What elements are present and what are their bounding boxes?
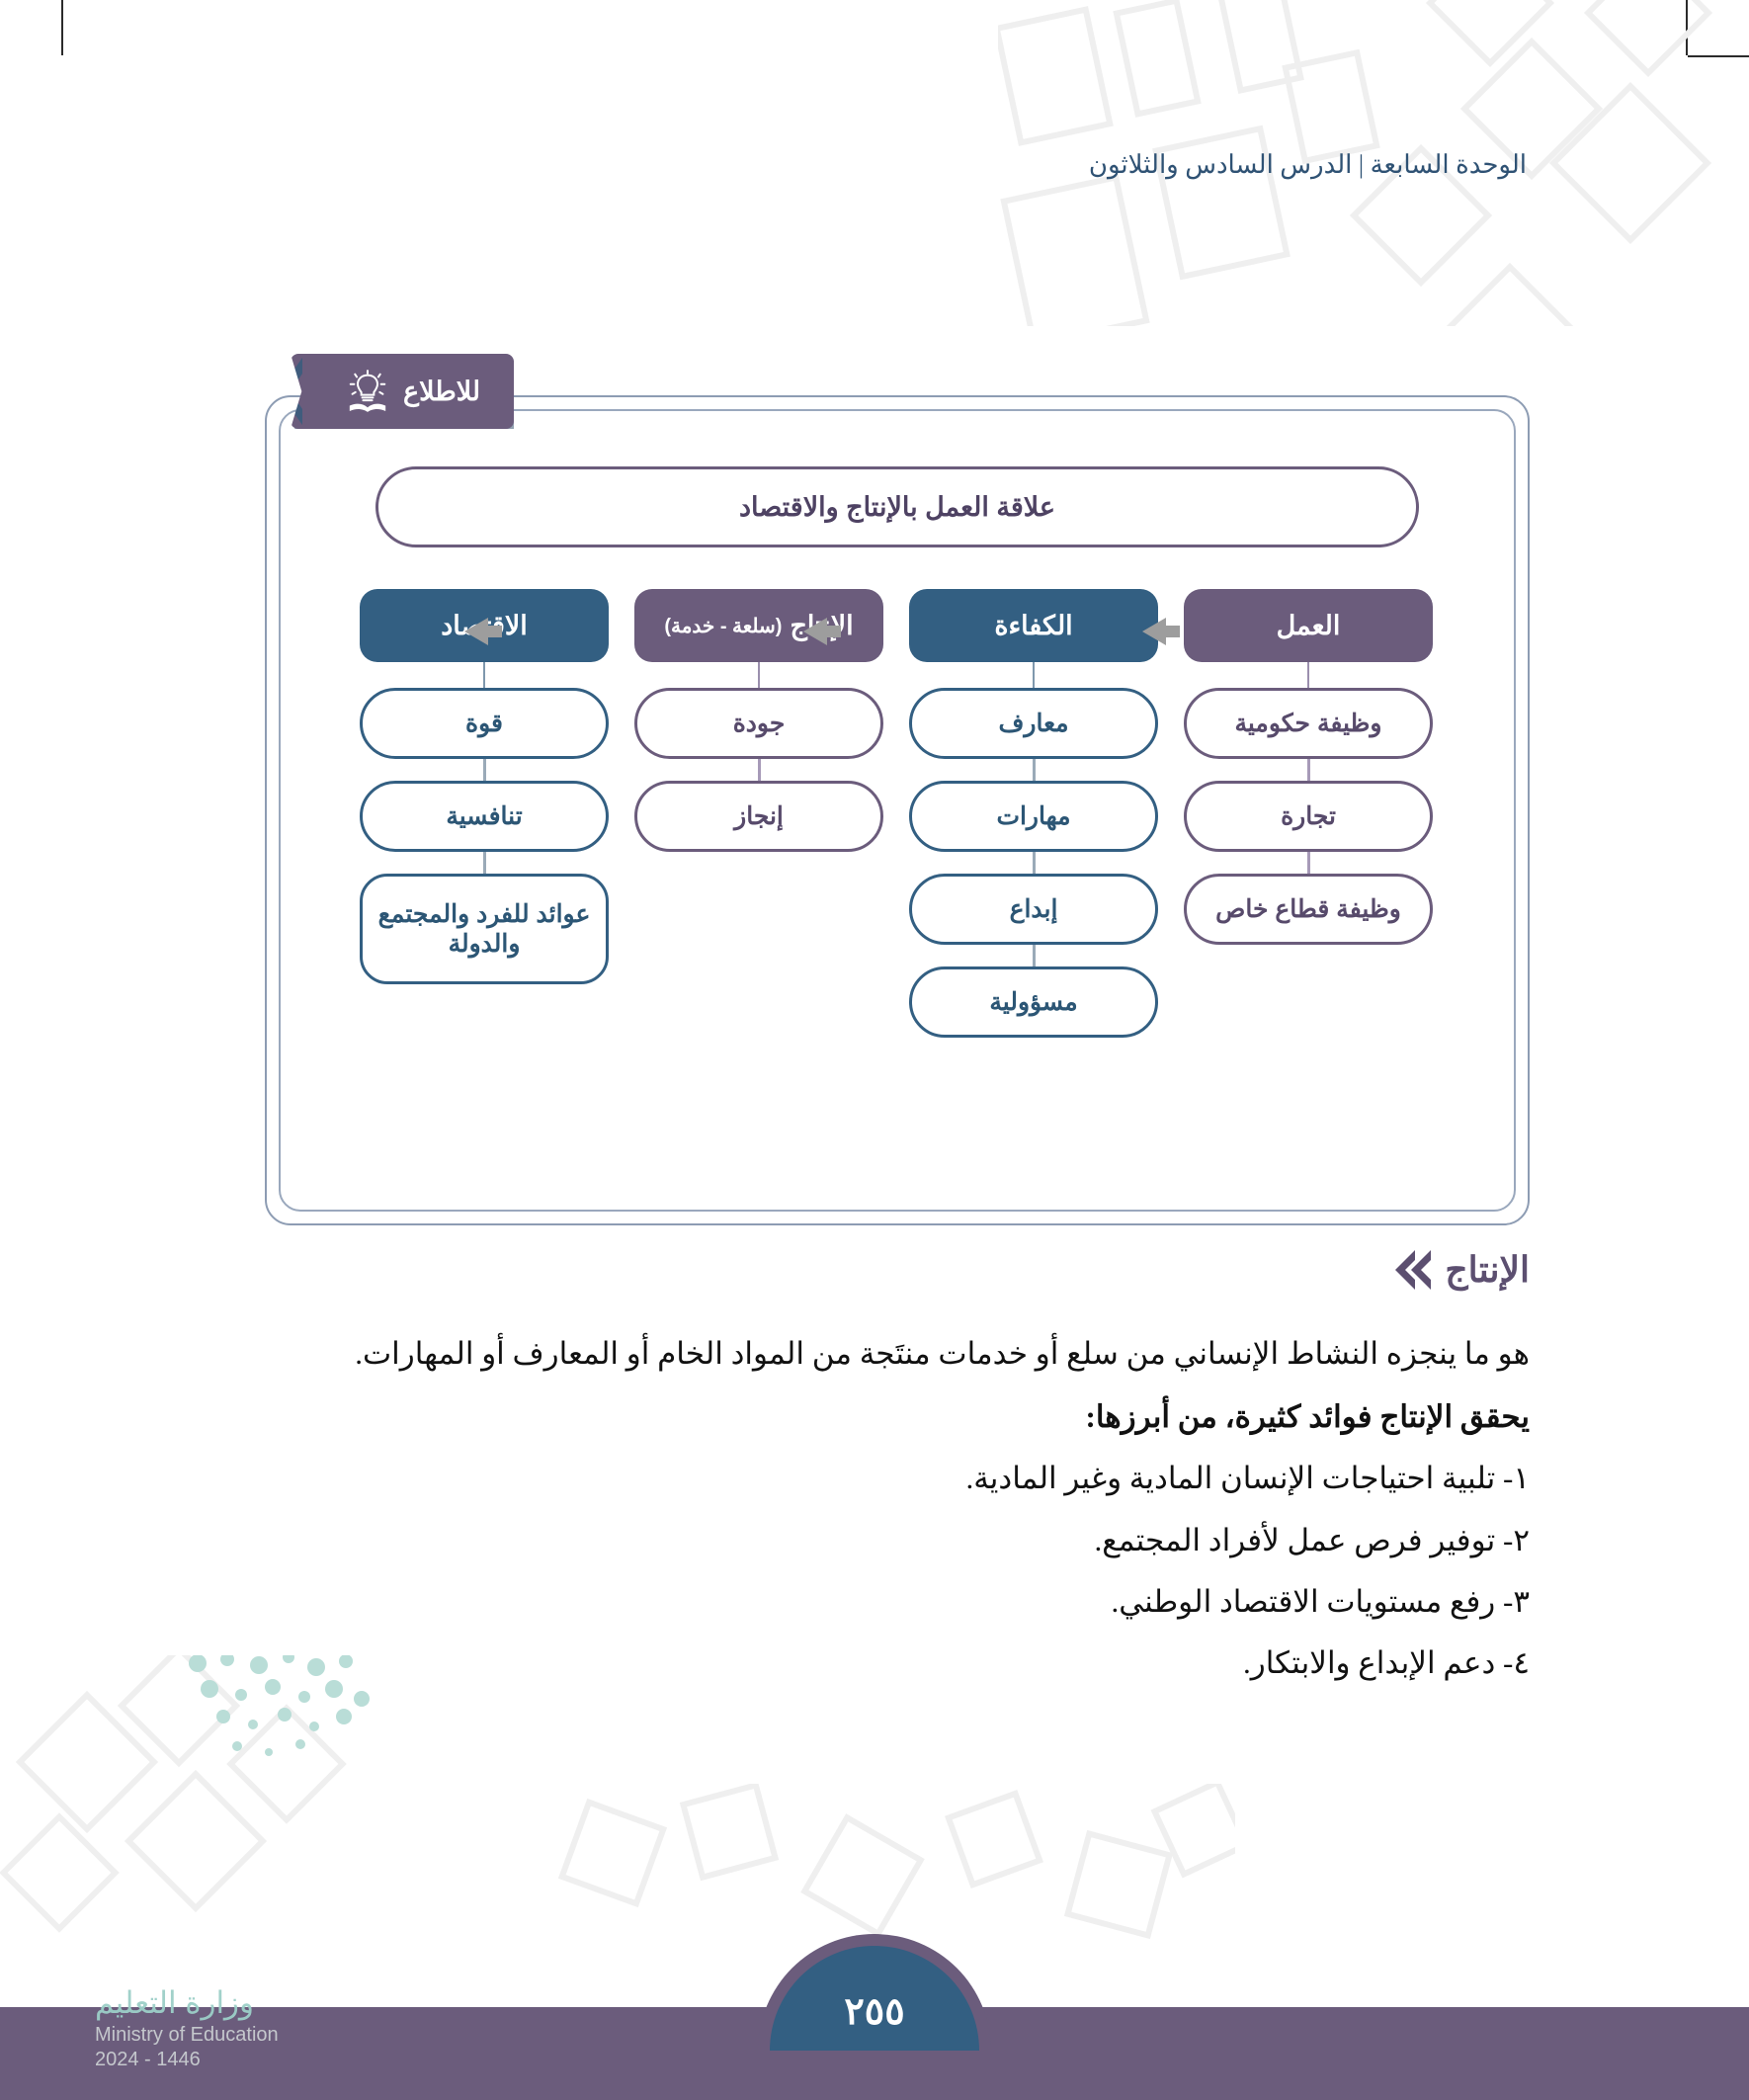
column-head-label: الكفاءة	[994, 611, 1072, 641]
node-work-2: تجارة	[1184, 781, 1433, 852]
ministry-name-ar: وزارة التعليم	[95, 1984, 279, 2023]
flow-arrow-2	[801, 615, 843, 648]
flow-arrow-3	[462, 615, 504, 648]
benefits-lead: يحقق الإنتاج فوائد كثيرة، من أبرزها:	[215, 1392, 1530, 1442]
running-head: الوحدة السابعة | الدرس السادس والثلاثون	[1089, 150, 1527, 180]
badge-label: للاطلاع	[403, 377, 480, 407]
node-economy-2: تنافسية	[360, 781, 609, 852]
crop-mark-top-left	[61, 0, 63, 55]
node-connector	[483, 759, 486, 781]
diagram-column-competence: الكفاءة معارف مهارات إبداع مسؤولية	[909, 589, 1158, 1038]
diagram-columns: العمل وظيفة حكومية تجارة وظيفة قطاع خاص …	[360, 589, 1433, 1038]
page-number: ٢٥٥	[844, 1989, 904, 2034]
node-connector	[1033, 852, 1036, 874]
body-text: هو ما ينجزه النشاط الإنساني من سلع أو خد…	[215, 1329, 1530, 1700]
node-production-1: جودة	[634, 688, 883, 759]
definition-paragraph: هو ما ينجزه النشاط الإنساني من سلع أو خد…	[215, 1329, 1530, 1379]
crop-mark-top-right-h	[1688, 55, 1749, 57]
node-connector	[758, 759, 761, 781]
list-item: ٢- توفير فرص عمل لأفراد المجتمع.	[215, 1516, 1530, 1565]
node-competence-2: مهارات	[909, 781, 1158, 852]
node-competence-3: إبداع	[909, 874, 1158, 945]
diagram-column-economy: الاقتصاد قوة تنافسية عوائد للفرد والمجتم…	[360, 589, 609, 1038]
column-head-sublabel: (سلعة - خدمة)	[664, 614, 782, 638]
diagram-column-production: الإنتاج (سلعة - خدمة) جودة إنجاز	[634, 589, 883, 1038]
node-competence-4: مسؤولية	[909, 966, 1158, 1038]
crop-mark-top-right-v	[1686, 0, 1688, 55]
node-connector	[1033, 759, 1036, 781]
node-work-1: وظيفة حكومية	[1184, 688, 1433, 759]
column-stem	[1033, 662, 1036, 688]
ministry-year: 2024 - 1446	[95, 2048, 279, 2072]
node-connector	[1307, 852, 1310, 874]
section-heading-label: الإنتاج	[1445, 1249, 1530, 1291]
list-item: ١- تلبية احتياجات الإنسان المادية وغير ا…	[215, 1454, 1530, 1503]
node-economy-1: قوة	[360, 688, 609, 759]
page-number-inner: ٢٥٥	[770, 1946, 979, 2051]
infographic-panel: للاطلاع علاقة العمل بالإنتاج والاقتصاد	[265, 395, 1530, 1225]
reference-badge: للاطلاع	[291, 354, 514, 429]
column-stem	[1307, 662, 1310, 688]
column-stem	[758, 662, 761, 688]
column-head-label: العمل	[1277, 611, 1341, 641]
list-item: ٣- رفع مستويات الاقتصاد الوطني.	[215, 1577, 1530, 1627]
benefits-list: ١- تلبية احتياجات الإنسان المادية وغير ا…	[215, 1454, 1530, 1688]
flow-arrow-1	[1140, 615, 1182, 648]
node-connector	[483, 852, 486, 874]
diagram-title: علاقة العمل بالإنتاج والاقتصاد	[375, 466, 1419, 547]
node-connector	[1307, 759, 1310, 781]
ministry-name-en: Ministry of Education	[95, 2023, 279, 2048]
node-competence-1: معارف	[909, 688, 1158, 759]
column-head-work: العمل	[1184, 589, 1433, 662]
lightbulb-book-icon	[348, 370, 387, 413]
column-head-production: الإنتاج (سلعة - خدمة)	[634, 589, 883, 662]
page-number-badge: ٢٥٥	[758, 1934, 991, 2051]
node-work-3: وظيفة قطاع خاص	[1184, 874, 1433, 945]
section-heading: الإنتاج	[1387, 1247, 1530, 1293]
node-economy-3: عوائد للفرد والمجتمع والدولة	[360, 874, 609, 984]
node-production-2: إنجاز	[634, 781, 883, 852]
column-head-competence: الكفاءة	[909, 589, 1158, 662]
column-stem	[483, 662, 486, 688]
node-connector	[1033, 945, 1036, 966]
decorative-pattern-bottom-left	[0, 1655, 632, 1981]
list-item: ٤- دعم الإبداع والابتكار.	[215, 1638, 1530, 1688]
diagram-column-work: العمل وظيفة حكومية تجارة وظيفة قطاع خاص	[1184, 589, 1433, 1038]
ministry-watermark: وزارة التعليم Ministry of Education 2024…	[95, 1984, 279, 2072]
double-chevron-left-icon	[1387, 1247, 1433, 1293]
